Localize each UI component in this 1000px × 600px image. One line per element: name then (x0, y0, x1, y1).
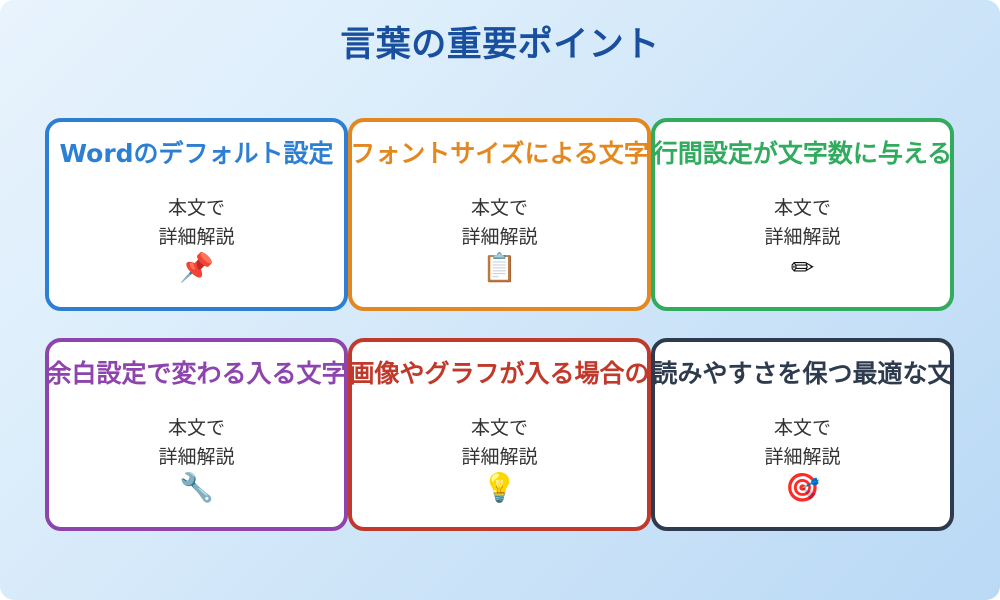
point-card-title: 画像やグラフが入る場合の (349, 358, 649, 389)
point-card-body-line2: 詳細解説 (655, 223, 950, 252)
point-card-body: 本文で 詳細解説 (49, 194, 344, 253)
points-card-grid: Wordのデフォルト設定 本文で 詳細解説 📌 フォントサイズによる文字 本文で… (45, 118, 955, 538)
page-title: 言葉の重要ポイント (0, 26, 1000, 65)
point-card-body: 本文で 詳細解説 (352, 414, 647, 473)
point-card-body-line1: 本文で (655, 194, 950, 223)
point-card[interactable]: フォントサイズによる文字 本文で 詳細解説 📋 (348, 118, 651, 311)
point-card-body: 本文で 詳細解説 (655, 194, 950, 253)
point-card-title: 余白設定で変わる入る文字 (46, 358, 346, 389)
point-card-body-line1: 本文で (352, 194, 647, 223)
point-card-body-line2: 詳細解説 (49, 443, 344, 472)
point-card[interactable]: Wordのデフォルト設定 本文で 詳細解説 📌 (45, 118, 348, 311)
point-card-title: 行間設定が文字数に与える (653, 138, 952, 169)
pushpin-icon: 📌 (49, 254, 344, 282)
point-card-body-line1: 本文で (352, 414, 647, 443)
pencil-icon: ✏ (655, 254, 950, 282)
point-card-body-line2: 詳細解説 (352, 223, 647, 252)
clipboard-icon: 📋 (352, 254, 647, 282)
slide-canvas: 言葉の重要ポイント Wordのデフォルト設定 本文で 詳細解説 📌 フォントサイ… (0, 0, 1000, 600)
point-card-body-line1: 本文で (49, 414, 344, 443)
point-card-title: フォントサイズによる文字 (350, 138, 649, 169)
point-card[interactable]: 余白設定で変わる入る文字 本文で 詳細解説 🔧 (45, 338, 348, 531)
point-card-body: 本文で 詳細解説 (352, 194, 647, 253)
point-card-body-line2: 詳細解説 (352, 443, 647, 472)
point-card-title: 読みやすさを保つ最適な文 (652, 358, 952, 389)
wrench-icon: 🔧 (49, 474, 344, 502)
lightbulb-icon: 💡 (352, 474, 647, 502)
point-card-body: 本文で 詳細解説 (49, 414, 344, 473)
point-card-body: 本文で 詳細解説 (655, 414, 950, 473)
point-card-body-line2: 詳細解説 (655, 443, 950, 472)
point-card[interactable]: 行間設定が文字数に与える 本文で 詳細解説 ✏ (651, 118, 954, 311)
point-card-title: Wordのデフォルト設定 (59, 138, 333, 169)
point-card-body-line2: 詳細解説 (49, 223, 344, 252)
point-card-body-line1: 本文で (655, 414, 950, 443)
point-card[interactable]: 読みやすさを保つ最適な文 本文で 詳細解説 🎯 (651, 338, 954, 531)
point-card-body-line1: 本文で (49, 194, 344, 223)
target-icon: 🎯 (655, 474, 950, 502)
point-card[interactable]: 画像やグラフが入る場合の 本文で 詳細解説 💡 (348, 338, 651, 531)
